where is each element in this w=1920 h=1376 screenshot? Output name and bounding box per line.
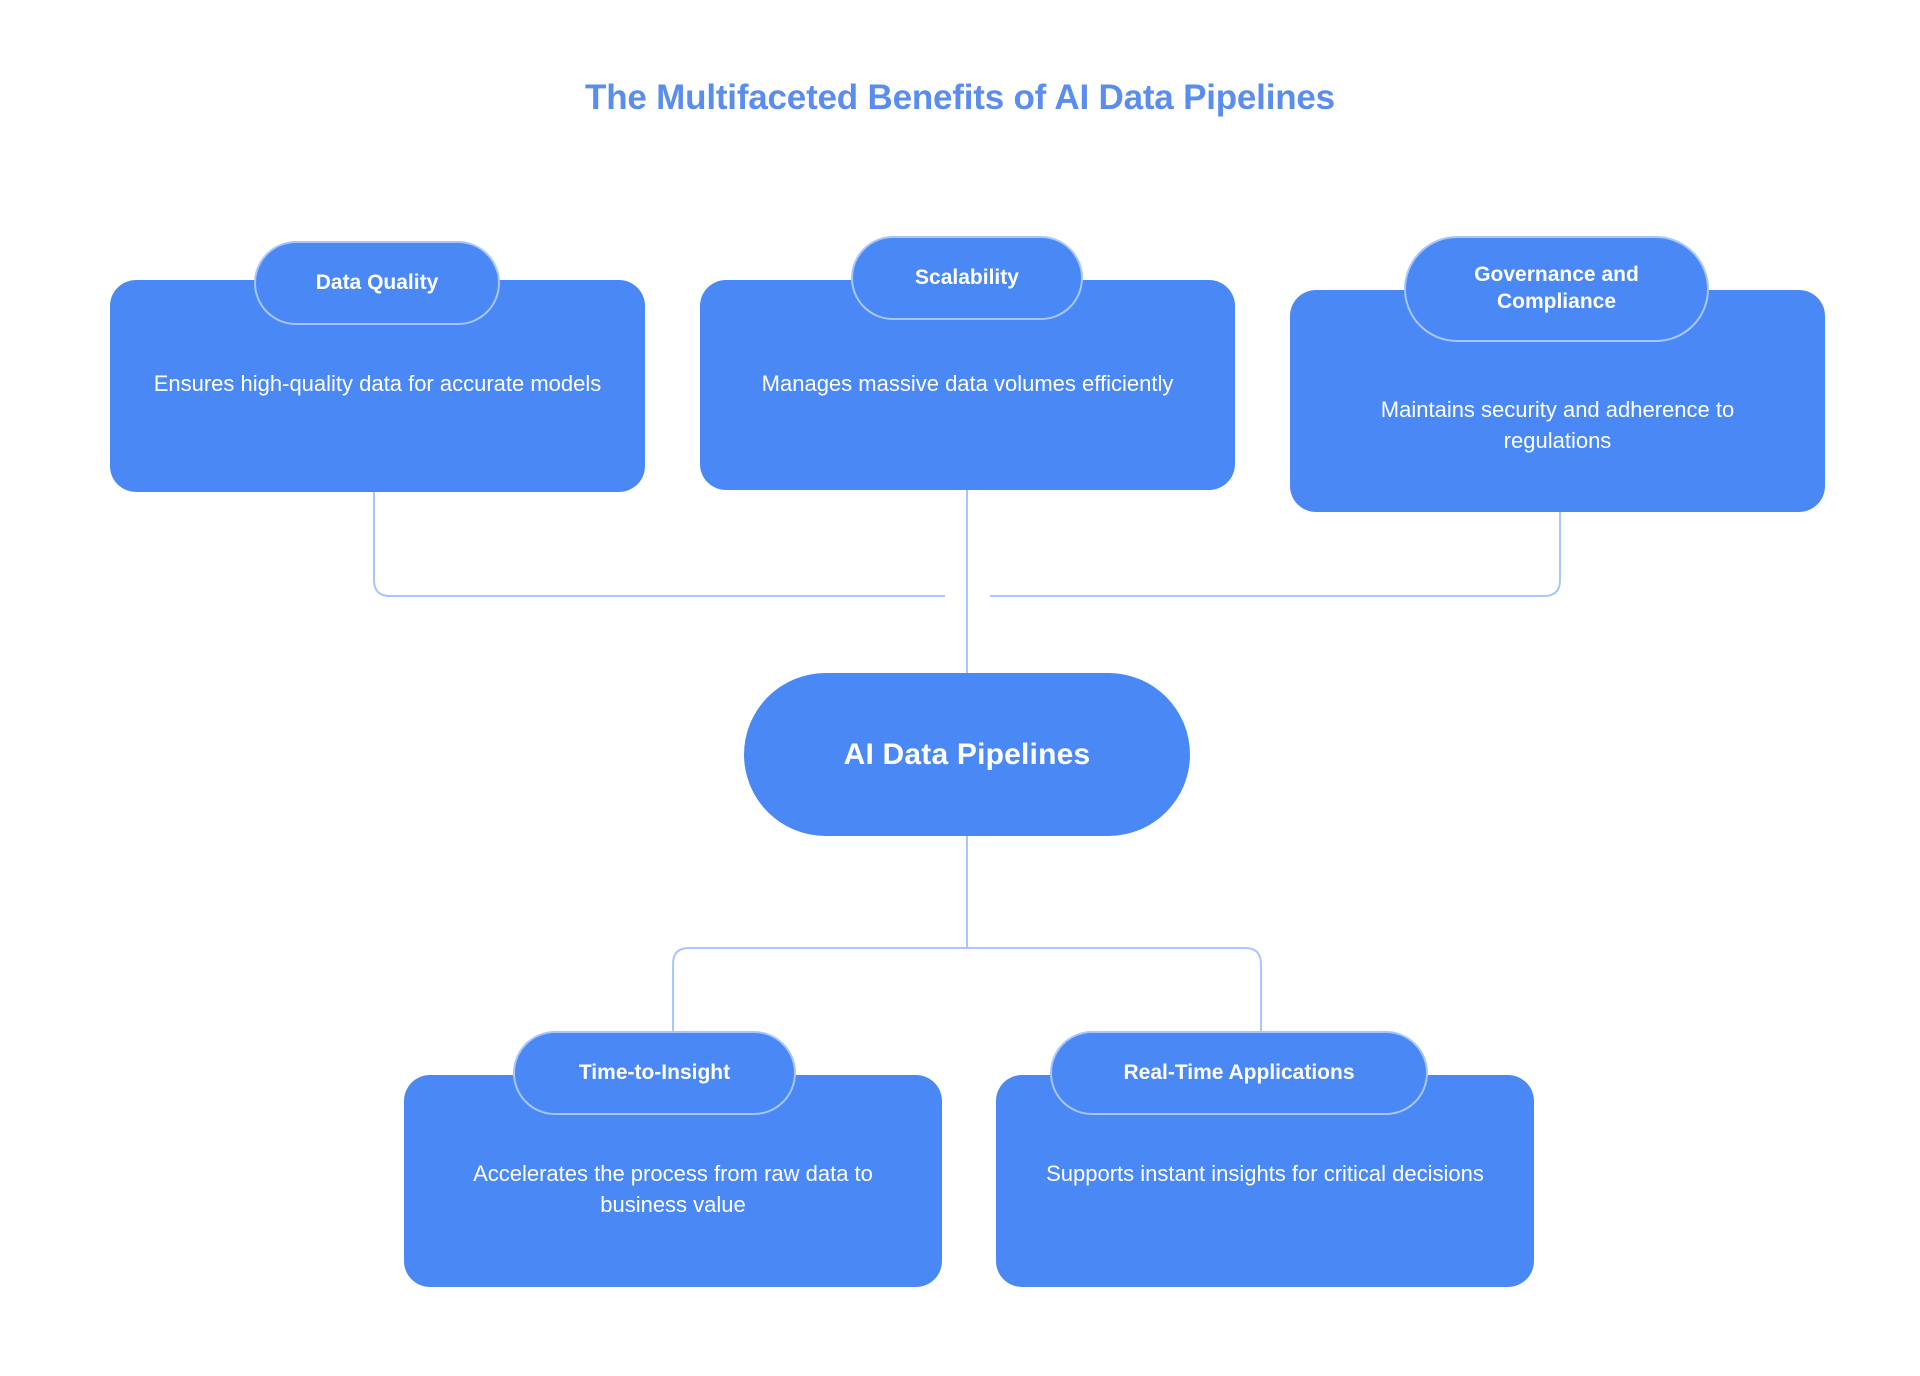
connector-top-left	[374, 492, 945, 596]
diagram-canvas: The Multifaceted Benefits of AI Data Pip…	[0, 0, 1920, 1376]
node-scalability-title[interactable]: Scalability	[851, 236, 1083, 320]
node-real-time-applications-title[interactable]: Real-Time Applications	[1050, 1031, 1428, 1115]
node-data-quality-title[interactable]: Data Quality	[254, 241, 500, 325]
node-time-to-insight-description: Accelerates the process from raw data to…	[432, 1158, 914, 1220]
node-data-quality-description: Ensures high-quality data for accurate m…	[150, 368, 605, 399]
node-governance-compliance-description: Maintains security and adherence to regu…	[1330, 394, 1785, 456]
node-real-time-applications-description: Supports instant insights for critical d…	[1024, 1158, 1506, 1189]
connector-bottom-left	[673, 948, 967, 1040]
page-title: The Multifaceted Benefits of AI Data Pip…	[0, 78, 1920, 118]
connector-top-right	[990, 512, 1560, 596]
connector-bottom-right	[967, 948, 1261, 1040]
node-time-to-insight-title[interactable]: Time-to-Insight	[513, 1031, 796, 1115]
node-ai-data-pipelines[interactable]: AI Data Pipelines	[744, 673, 1190, 836]
node-governance-compliance-title[interactable]: Governance and Compliance	[1404, 236, 1709, 342]
node-scalability-description: Manages massive data volumes efficiently	[740, 368, 1195, 399]
